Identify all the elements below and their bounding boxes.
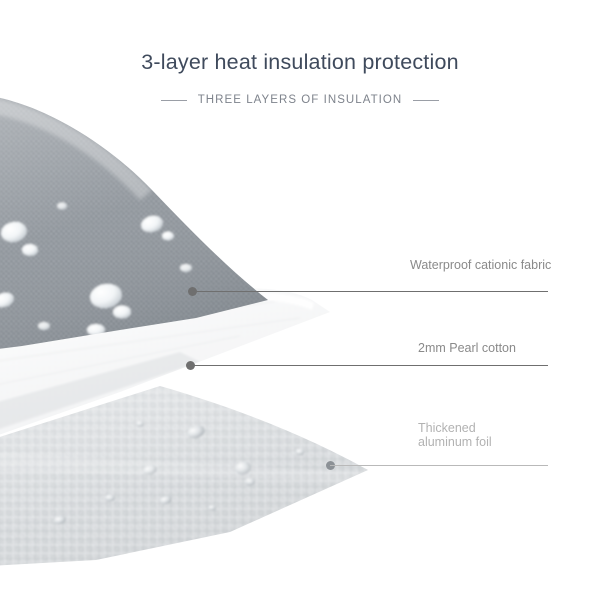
page-title: 3-layer heat insulation protection (0, 50, 600, 75)
layer-illustration (0, 0, 600, 600)
aluminum-foil-layer (0, 370, 600, 590)
subtitle-dash-left (161, 100, 187, 101)
subtitle-dash-right (413, 100, 439, 101)
callout-leader-thickened-aluminum-foil (330, 465, 548, 466)
callout-label-thickened-aluminum-foil: Thickened aluminum foil (418, 421, 492, 449)
page-subtitle: THREE LAYERS OF INSULATION (198, 94, 403, 106)
callout-label-waterproof-cationic-fabric: Waterproof cationic fabric (410, 258, 551, 272)
infographic-canvas: 3-layer heat insulation protection THREE… (0, 0, 600, 600)
callout-leader-waterproof-cationic-fabric (192, 291, 548, 292)
subtitle-row: THREE LAYERS OF INSULATION (0, 94, 600, 106)
callout-label-pearl-cotton: 2mm Pearl cotton (418, 341, 516, 355)
callout-leader-pearl-cotton (190, 365, 548, 366)
